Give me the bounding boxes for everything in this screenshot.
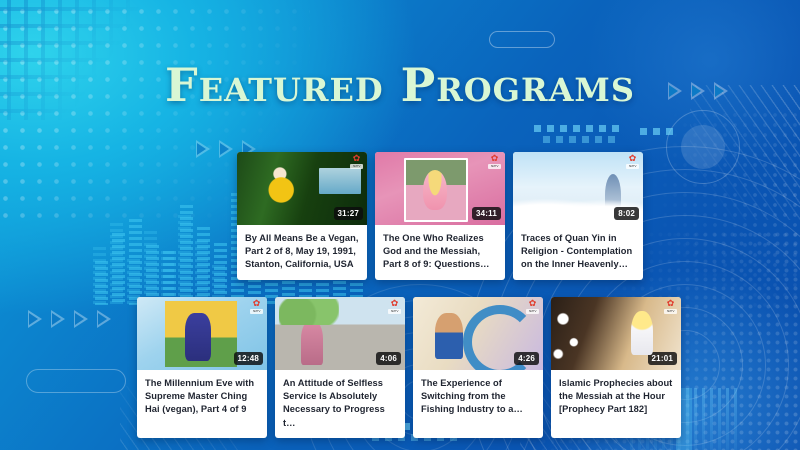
- thumbnail-figure: [435, 313, 463, 359]
- channel-logo-icon: ✿SMTV: [487, 154, 502, 170]
- program-card[interactable]: ✿SMTV21:01Islamic Prophecies about the M…: [551, 297, 681, 438]
- thumbnail-figure: [631, 311, 653, 355]
- channel-logo-icon: ✿SMTV: [349, 154, 364, 170]
- program-card[interactable]: ✿SMTV31:27By All Means Be a Vegan, Part …: [237, 152, 367, 280]
- page-title: Featured Programs: [0, 62, 800, 108]
- program-title: The Experience of Switching from the Fis…: [413, 370, 543, 425]
- logo-wordmark: SMTV: [526, 309, 539, 314]
- channel-logo-icon: ✿SMTV: [663, 299, 678, 315]
- program-card[interactable]: ✿SMTV4:26The Experience of Switching fro…: [413, 297, 543, 438]
- logo-wordmark: SMTV: [350, 164, 363, 169]
- program-title: The One Who Realizes God and the Messiah…: [375, 225, 505, 280]
- channel-logo-icon: ✿SMTV: [525, 299, 540, 315]
- program-title: An Attitude of Selfless Service Is Absol…: [275, 370, 405, 438]
- program-title: The Millennium Eve with Supreme Master C…: [137, 370, 267, 425]
- program-title: By All Means Be a Vegan, Part 2 of 8, Ma…: [237, 225, 367, 280]
- channel-logo-icon: ✿SMTV: [625, 154, 640, 170]
- logo-wordmark: SMTV: [626, 164, 639, 169]
- program-thumbnail[interactable]: ✿SMTV12:48: [137, 297, 267, 370]
- logo-wordmark: SMTV: [488, 164, 501, 169]
- logo-mark-icon: ✿: [491, 154, 499, 163]
- program-thumbnail[interactable]: ✿SMTV4:26: [413, 297, 543, 370]
- logo-mark-icon: ✿: [391, 299, 399, 308]
- program-card[interactable]: ✿SMTV12:48The Millennium Eve with Suprem…: [137, 297, 267, 438]
- channel-logo-icon: ✿SMTV: [387, 299, 402, 315]
- featured-row-2: ✿SMTV12:48The Millennium Eve with Suprem…: [137, 297, 681, 438]
- program-title: Traces of Quan Yin in Religion - Contemp…: [513, 225, 643, 280]
- program-thumbnail[interactable]: ✿SMTV21:01: [551, 297, 681, 370]
- program-card[interactable]: ✿SMTV4:06An Attitude of Selfless Service…: [275, 297, 405, 438]
- thumbnail-figure: [301, 321, 323, 365]
- thumbnail-figure: [423, 170, 447, 210]
- logo-mark-icon: ✿: [253, 299, 261, 308]
- logo-wordmark: SMTV: [250, 309, 263, 314]
- logo-mark-icon: ✿: [629, 154, 637, 163]
- program-thumbnail[interactable]: ✿SMTV8:02: [513, 152, 643, 225]
- featured-row-1: ✿SMTV31:27By All Means Be a Vegan, Part …: [237, 152, 643, 280]
- program-card[interactable]: ✿SMTV8:02Traces of Quan Yin in Religion …: [513, 152, 643, 280]
- program-thumbnail[interactable]: ✿SMTV34:11: [375, 152, 505, 225]
- duration-badge: 4:26: [514, 352, 539, 365]
- duration-badge: 12:48: [234, 352, 263, 365]
- thumbnail-figure: [185, 313, 211, 361]
- logo-mark-icon: ✿: [529, 299, 537, 308]
- duration-badge: 4:06: [376, 352, 401, 365]
- program-card[interactable]: ✿SMTV34:11The One Who Realizes God and t…: [375, 152, 505, 280]
- channel-logo-icon: ✿SMTV: [249, 299, 264, 315]
- logo-wordmark: SMTV: [664, 309, 677, 314]
- duration-badge: 8:02: [614, 207, 639, 220]
- duration-badge: 34:11: [472, 207, 501, 220]
- logo-wordmark: SMTV: [388, 309, 401, 314]
- program-thumbnail[interactable]: ✿SMTV4:06: [275, 297, 405, 370]
- logo-mark-icon: ✿: [353, 154, 361, 163]
- duration-badge: 31:27: [334, 207, 363, 220]
- program-thumbnail[interactable]: ✿SMTV31:27: [237, 152, 367, 225]
- program-title: Islamic Prophecies about the Messiah at …: [551, 370, 681, 425]
- logo-mark-icon: ✿: [667, 299, 675, 308]
